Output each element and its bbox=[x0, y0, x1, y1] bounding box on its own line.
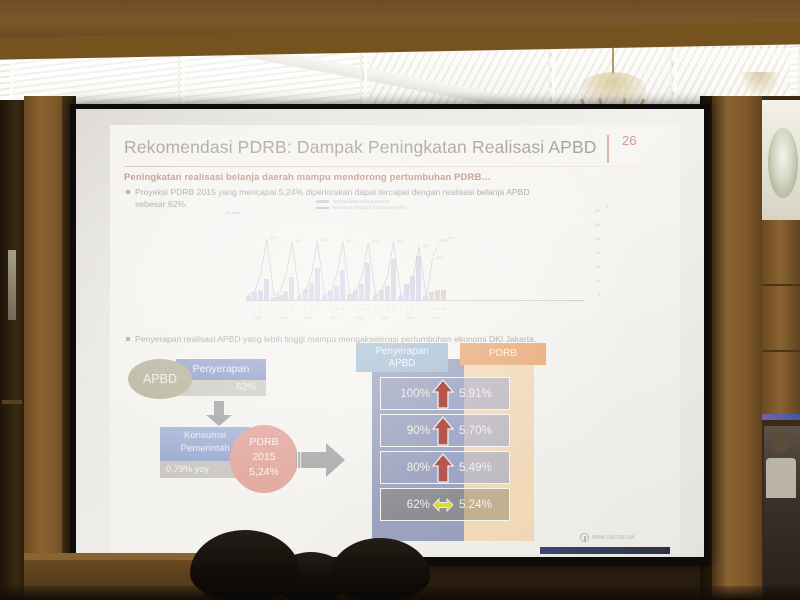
chart-year-label: 2010 bbox=[305, 316, 313, 320]
attendee-head bbox=[772, 434, 789, 453]
comparison-row[interactable]: 100%5.91% bbox=[380, 377, 510, 410]
chart-x-tick-label: IV bbox=[367, 307, 370, 311]
absorption-value: 80% bbox=[380, 461, 432, 474]
chart-year-label: 2014 bbox=[406, 316, 414, 320]
title-underline bbox=[124, 166, 644, 167]
chart-x-tick-label: IV bbox=[316, 307, 319, 311]
legend-label: Persentase Realisasi Total Belanja (rhs) bbox=[332, 205, 406, 210]
ceiling-lamp bbox=[740, 72, 780, 98]
chart-data-label: 86.8 bbox=[397, 240, 403, 244]
chart-year-label: 2008 bbox=[254, 316, 262, 320]
chart-data-label: 87.2 bbox=[296, 239, 302, 243]
arrow-up-red-icon bbox=[432, 416, 454, 446]
chart-legend: Total Realisasi Belanja Daerah Persentas… bbox=[316, 199, 406, 211]
right-doorway-gap bbox=[762, 96, 800, 600]
chart-x-tick-label: I bbox=[324, 307, 325, 311]
bullet-dot-icon bbox=[126, 337, 130, 341]
growth-value: 5.70% bbox=[454, 424, 510, 437]
panel-header-absorption-line2: APBD bbox=[356, 358, 448, 370]
chart-x-tick-label: II bbox=[381, 307, 383, 311]
chart-x-tick-label: III bbox=[285, 307, 287, 311]
chart-percentage-line bbox=[246, 215, 584, 301]
panel-seam bbox=[762, 350, 800, 352]
background-accent-light bbox=[762, 414, 800, 420]
growth-value: 5.49% bbox=[454, 461, 510, 474]
wall-trim bbox=[2, 400, 22, 404]
chart-x-tick-label: I bbox=[401, 307, 402, 311]
chart-x-tick-label: IV* bbox=[442, 307, 446, 311]
arrow-left-right-yellow-icon bbox=[432, 497, 454, 513]
slide-subheading: Peningkatan realisasi belanja daerah mam… bbox=[124, 172, 491, 183]
wall-light-reflection bbox=[8, 250, 16, 320]
chart-y-axis-label-right: % bbox=[606, 205, 609, 209]
y-tick-label: 0 bbox=[598, 293, 600, 297]
chart-x-tick-label: IV bbox=[341, 307, 344, 311]
chart-x-tick-label: III bbox=[412, 307, 414, 311]
panel-header-pdrb: PDRB bbox=[460, 343, 546, 365]
pdrb-circle: PDRB 2015 5,24% bbox=[230, 425, 298, 493]
flower-arrangement bbox=[768, 128, 798, 198]
y-tick-label: 60 bbox=[596, 251, 600, 255]
screen-glare-strip bbox=[540, 547, 670, 554]
chart-x-tick-label: IV bbox=[291, 307, 294, 311]
chart-data-label: 92.0 bbox=[448, 236, 454, 240]
chart-year-label: 2013 bbox=[381, 316, 389, 320]
chart-y-axis-label: Rp miliar bbox=[226, 211, 240, 215]
chart-data-label: 86.4 bbox=[372, 240, 378, 244]
chart-x-tick-label: I bbox=[426, 307, 427, 311]
chart-x-tick-label: III bbox=[386, 307, 388, 311]
y-tick-label: 80 bbox=[596, 237, 600, 241]
chart-x-tick-label: I bbox=[299, 307, 300, 311]
presentation-slide: Rekomendasi PDRB: Dampak Peningkatan Rea… bbox=[110, 125, 680, 555]
chart-plot-area: 0 20 40 60 80 100 120 91.487.288.488.086… bbox=[246, 215, 584, 301]
apbd-realization-chart: Total Realisasi Belanja Daerah Persentas… bbox=[228, 201, 608, 319]
chart-year-label: 2012 bbox=[355, 316, 363, 320]
legend-label: Total Realisasi Belanja Daerah bbox=[332, 199, 389, 204]
right-wood-pillar bbox=[712, 96, 764, 600]
chart-data-label: 62.0 bbox=[436, 256, 442, 260]
pdrb-label: PDRB bbox=[230, 435, 298, 450]
y-tick-label: 100 bbox=[594, 223, 600, 227]
left-wall-shadow bbox=[0, 100, 26, 600]
attendee-shirt bbox=[766, 458, 796, 498]
projection-screen[interactable]: Rekomendasi PDRB: Dampak Peningkatan Rea… bbox=[76, 109, 704, 557]
arrow-up-red-icon bbox=[432, 453, 454, 483]
panel-header-absorption-line1: Penyerapan bbox=[356, 346, 448, 358]
panel-header-absorption: Penyerapan APBD bbox=[356, 343, 448, 372]
chart-x-tick-label: IV bbox=[265, 307, 268, 311]
chart-x-tick-label: III bbox=[361, 307, 363, 311]
chart-x-tick-label: I bbox=[375, 307, 376, 311]
chart-x-tick-label: I bbox=[274, 307, 275, 311]
chart-data-label: 88.4 bbox=[321, 238, 327, 242]
chart-x-tick-label: II bbox=[254, 307, 256, 311]
chart-x-tick-label: II bbox=[330, 307, 332, 311]
chandelier-body bbox=[580, 72, 646, 106]
foreground-desk-top bbox=[24, 553, 204, 560]
y-tick-label: 40 bbox=[596, 265, 600, 269]
y-tick-label: 20 bbox=[596, 279, 600, 283]
chart-x-tick-label: I bbox=[248, 307, 249, 311]
bullet-dot-icon bbox=[126, 190, 130, 194]
legend-entry: Persentase Realisasi Total Belanja (rhs) bbox=[316, 205, 406, 210]
chart-x-tick-label: II bbox=[279, 307, 281, 311]
chart-x-tick-label: III bbox=[310, 307, 312, 311]
pdrb-year: 2015 bbox=[230, 450, 298, 465]
chart-year-label: 2011 bbox=[330, 316, 337, 320]
bank-indonesia-logo: BANK INDONESIA bbox=[580, 533, 635, 542]
absorption-value: 100% bbox=[380, 387, 432, 400]
apbd-ellipse: APBD bbox=[128, 359, 192, 399]
right-arrow-icon bbox=[296, 441, 346, 479]
pdrb-value: 5,24% bbox=[230, 465, 298, 480]
legend-swatch-line bbox=[316, 207, 329, 209]
absorption-value: 62% bbox=[380, 498, 432, 511]
chart-x-tick-label: II bbox=[355, 307, 357, 311]
chart-x-tick-label: IV bbox=[418, 307, 421, 311]
chart-x-tick-label: III bbox=[336, 307, 338, 311]
chart-year-label: 2009 bbox=[279, 316, 287, 320]
growth-value: 5.91% bbox=[454, 387, 510, 400]
chart-x-tick-label: II bbox=[432, 307, 434, 311]
comparison-row[interactable]: 80%5.49% bbox=[380, 451, 510, 484]
bullet-text-line1: Proyeksi PDRB 2015 yang mencapai 5,24% d… bbox=[135, 187, 530, 197]
chart-x-tick-label: II bbox=[305, 307, 307, 311]
chart-x-tick-label: III bbox=[259, 307, 261, 311]
chart-year-label: 2015 bbox=[432, 316, 440, 320]
arrow-up-red-icon bbox=[432, 379, 454, 409]
chart-x-tick-label: III* bbox=[437, 307, 441, 311]
panel-seam bbox=[762, 284, 800, 286]
chart-x-tick-label: II bbox=[406, 307, 408, 311]
title-divider bbox=[607, 135, 609, 163]
bank-indonesia-logo-text: BANK INDONESIA bbox=[592, 535, 635, 541]
chart-data-label: 88.0 bbox=[347, 239, 353, 243]
flow-diagram: Penyerapan 62% APBD Konsumsi Pemerintah … bbox=[120, 353, 340, 503]
slide-page-number: 26 bbox=[622, 133, 636, 148]
comparison-row[interactable]: 62%5.24% bbox=[380, 488, 510, 521]
bank-indonesia-logo-icon bbox=[580, 533, 589, 542]
background-wood-panel bbox=[762, 220, 800, 416]
comparison-row[interactable]: 90%5.70% bbox=[380, 414, 510, 447]
absorption-value: 90% bbox=[380, 424, 432, 437]
comparison-panel: Penyerapan APBD PDRB 100%5.91%90%5.70%80… bbox=[350, 343, 550, 543]
y-tick-label: 120 bbox=[594, 209, 600, 213]
chart-data-label: 91.4 bbox=[270, 236, 276, 240]
slide-title: Rekomendasi PDRB: Dampak Peningkatan Rea… bbox=[124, 137, 594, 158]
chart-x-tick-label: I bbox=[350, 307, 351, 311]
chart-x-tick-label: IV bbox=[392, 307, 395, 311]
chart-data-label: 80.0 bbox=[423, 244, 429, 248]
down-arrow-icon bbox=[204, 401, 234, 427]
legend-swatch-bar bbox=[316, 200, 329, 203]
legend-entry: Total Realisasi Belanja Daerah bbox=[316, 199, 406, 204]
growth-value: 5.24% bbox=[454, 498, 510, 511]
